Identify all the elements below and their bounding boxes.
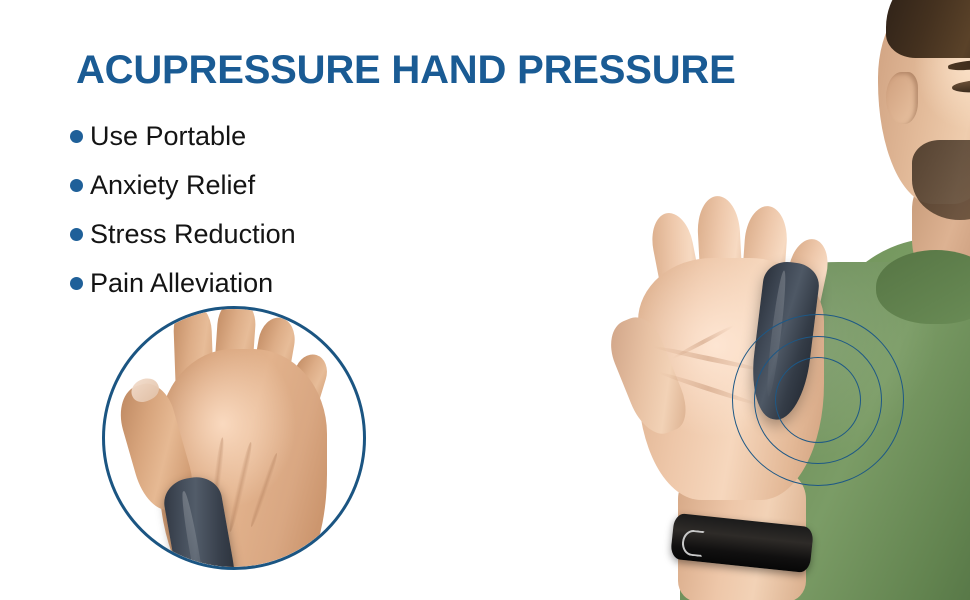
product-banner: ACUPRESSURE HAND PRESSURE Use Portable A… bbox=[0, 0, 970, 600]
benefit-label: Pain Alleviation bbox=[90, 270, 273, 297]
hair bbox=[886, 0, 970, 58]
bullet-dot-icon bbox=[70, 228, 83, 241]
main-hero-photo bbox=[560, 0, 970, 600]
list-item: Use Portable bbox=[70, 112, 296, 161]
bullet-dot-icon bbox=[70, 130, 83, 143]
list-item: Pain Alleviation bbox=[70, 259, 296, 308]
inset-photo-clip bbox=[105, 309, 363, 567]
list-item: Anxiety Relief bbox=[70, 161, 296, 210]
benefits-list: Use Portable Anxiety Relief Stress Reduc… bbox=[70, 112, 296, 308]
ear bbox=[886, 72, 918, 124]
benefit-label: Use Portable bbox=[90, 123, 246, 150]
bullet-dot-icon bbox=[70, 277, 83, 290]
inset-hand-photo bbox=[102, 306, 366, 570]
bullet-dot-icon bbox=[70, 179, 83, 192]
benefit-label: Stress Reduction bbox=[90, 221, 296, 248]
list-item: Stress Reduction bbox=[70, 210, 296, 259]
benefit-label: Anxiety Relief bbox=[90, 172, 255, 199]
